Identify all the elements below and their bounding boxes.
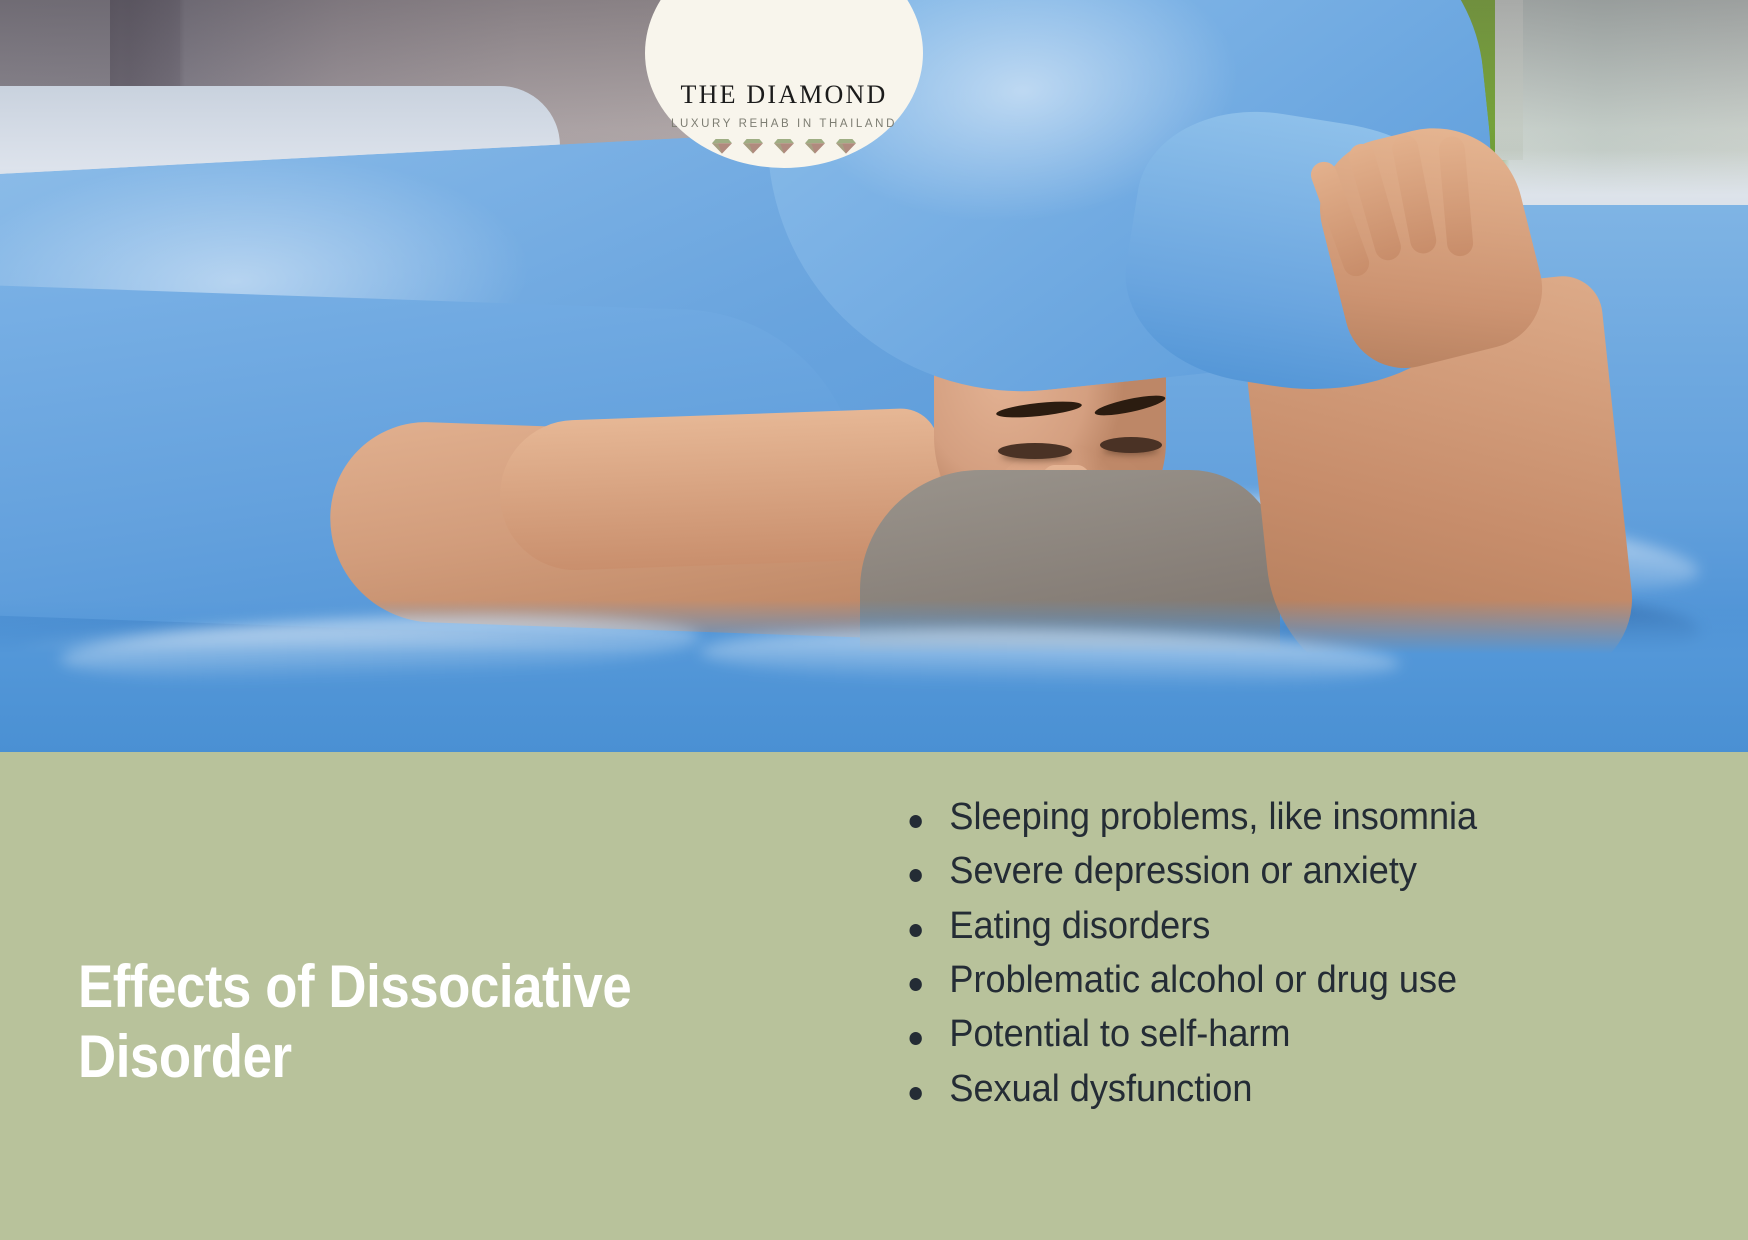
page-title: Effects of Dissociative Disorder (78, 952, 729, 1091)
effects-list-item: Eating disorders (900, 899, 1679, 953)
bullet-icon (910, 869, 922, 882)
effects-list-item: Sleeping problems, like insomnia (900, 790, 1679, 844)
content-band: Effects of Dissociative Disorder Sleepin… (0, 752, 1748, 1240)
effects-list-item-label: Problematic alcohol or drug use (949, 959, 1457, 1001)
diamond-gem-icon (836, 139, 856, 154)
effects-list: Sleeping problems, like insomniaSevere d… (900, 790, 1720, 1116)
bullet-icon (910, 978, 922, 991)
effects-list-item: Sexual dysfunction (900, 1062, 1679, 1116)
effects-list-item: Potential to self-harm (900, 1007, 1679, 1061)
bed-sheet-foreground (0, 600, 1748, 754)
effects-list-item-label: Sexual dysfunction (949, 1068, 1252, 1110)
bullet-icon (910, 1032, 922, 1045)
bullet-icon (910, 815, 922, 828)
eye-right-closed (1100, 437, 1162, 453)
effects-list-item-label: Eating disorders (949, 905, 1210, 947)
diamond-gem-icon (805, 139, 825, 154)
bullet-icon (910, 1087, 922, 1100)
logo-diamond-row (712, 139, 856, 154)
effects-list-item: Severe depression or anxiety (900, 844, 1679, 898)
bullet-icon (910, 924, 922, 937)
heading-column: Effects of Dissociative Disorder (78, 952, 818, 1091)
effects-column: Sleeping problems, like insomniaSevere d… (900, 790, 1720, 1116)
effects-list-item-label: Potential to self-harm (949, 1013, 1290, 1055)
effects-list-item: Problematic alcohol or drug use (900, 953, 1679, 1007)
effects-list-item-label: Severe depression or anxiety (949, 850, 1417, 892)
diamond-gem-icon (743, 139, 763, 154)
eyebrow-left (996, 399, 1083, 421)
eye-left-closed (998, 443, 1072, 459)
diamond-gem-icon (712, 139, 732, 154)
diamond-gem-icon (774, 139, 794, 154)
logo-subtitle: LUXURY REHAB IN THAILAND (671, 119, 897, 131)
logo-title: THE DIAMOND (681, 82, 888, 108)
effects-list-item-label: Sleeping problems, like insomnia (949, 796, 1477, 838)
infographic-card: THE DIAMOND LUXURY REHAB IN THAILAND Eff… (0, 0, 1748, 1240)
eyebrow-right (1093, 392, 1166, 420)
